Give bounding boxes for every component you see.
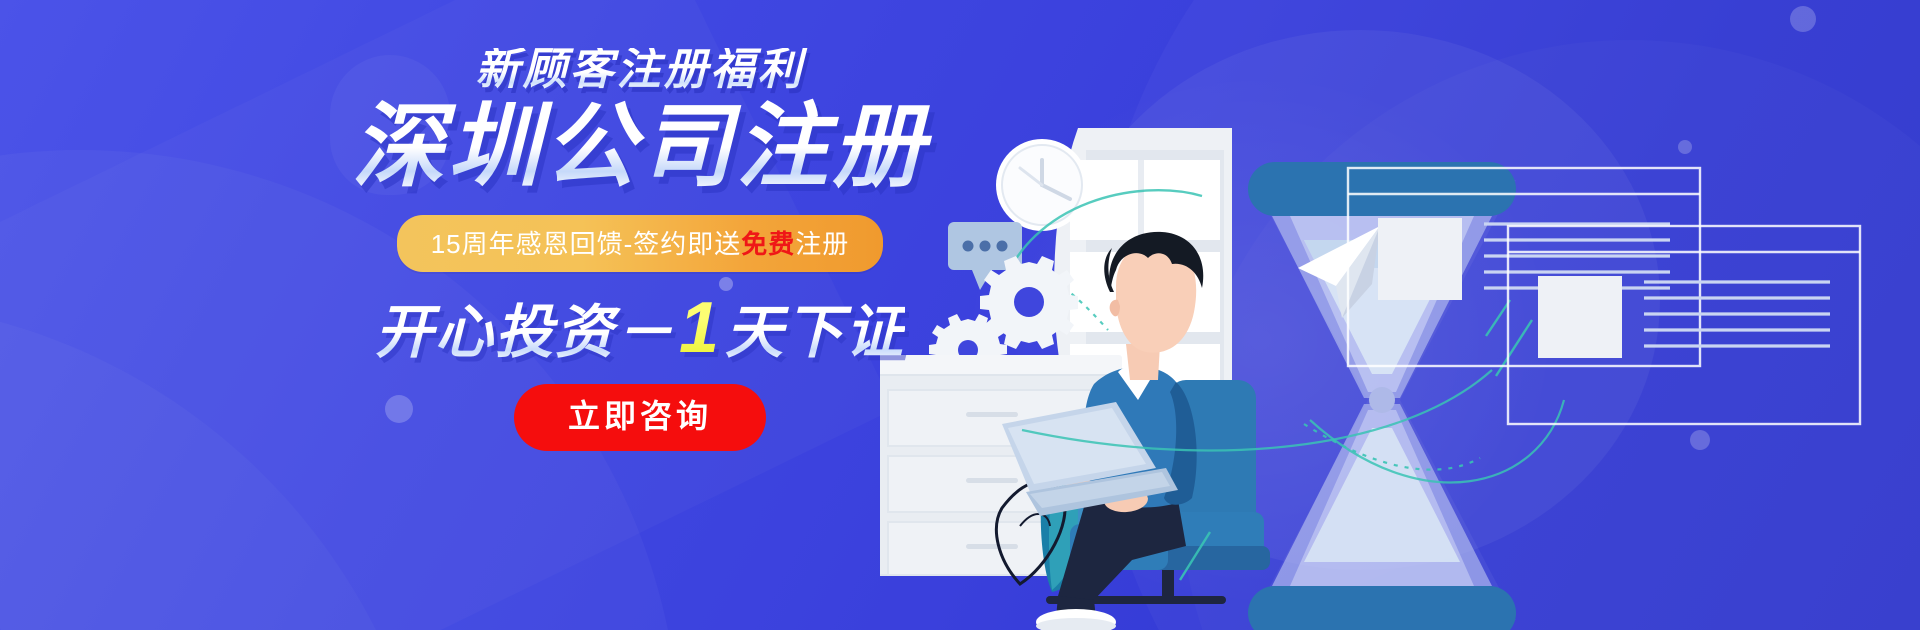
consult-now-button[interactable]: 立即咨询 <box>514 384 766 451</box>
wall-clock-icon <box>996 139 1088 231</box>
promo-suffix: 注册 <box>795 229 849 259</box>
promo-badge: 15周年感恩回馈-签约即送免费注册 <box>397 215 884 272</box>
page-title: 深圳公司注册 <box>330 98 950 197</box>
promo-highlight: 免费 <box>741 229 795 259</box>
promo-prefix: 15周年感恩回馈-签约即送 <box>431 229 742 259</box>
hero-copy: 新顾客注册福利 深圳公司注册 15周年感恩回馈-签约即送免费注册 开心投资－1天… <box>330 48 950 451</box>
tagline-before: 开心投资－ <box>375 300 675 365</box>
illustration <box>880 0 1920 630</box>
promo-banner: 新顾客注册福利 深圳公司注册 15周年感恩回馈-签约即送免费注册 开心投资－1天… <box>0 0 1920 630</box>
tagline: 开心投资－1天下证 <box>330 292 950 364</box>
eyebrow-text: 新顾客注册福利 <box>330 48 950 92</box>
tagline-after: 天下证 <box>725 300 905 365</box>
tagline-number: 1 <box>675 288 725 368</box>
